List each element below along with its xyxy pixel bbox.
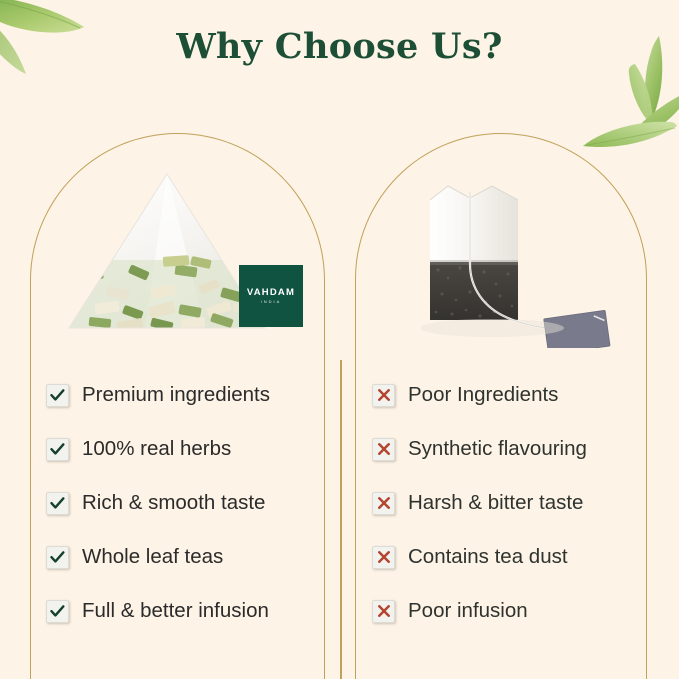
list-item: 100% real herbs — [46, 422, 336, 476]
brand-name: VAHDAM — [247, 288, 295, 298]
list-item: Harsh & bitter taste — [372, 476, 652, 530]
cross-icon — [372, 492, 395, 515]
list-item: Premium ingredients — [46, 368, 336, 422]
cross-icon — [372, 600, 395, 623]
list-item: Full & better infusion — [46, 584, 336, 638]
list-item-label: Contains tea dust — [408, 547, 568, 568]
cross-icon — [372, 438, 395, 461]
list-item-label: Whole leaf teas — [82, 547, 223, 568]
list-item-label: Rich & smooth taste — [82, 493, 265, 514]
list-item-label: 100% real herbs — [82, 439, 231, 460]
page-title: Why Choose Us? — [0, 26, 679, 67]
list-item: Poor Ingredients — [372, 368, 652, 422]
check-icon — [46, 492, 69, 515]
cross-icon — [372, 546, 395, 569]
list-item-label: Full & better infusion — [82, 601, 269, 622]
list-item: Contains tea dust — [372, 530, 652, 584]
list-item-label: Harsh & bitter taste — [408, 493, 583, 514]
list-item-label: Synthetic flavouring — [408, 439, 587, 460]
check-icon — [46, 546, 69, 569]
list-item: Whole leaf teas — [46, 530, 336, 584]
promo-graphic: Why Choose Us? — [0, 0, 679, 679]
column-divider — [340, 360, 342, 679]
check-icon — [46, 384, 69, 407]
benefits-list: Premium ingredients 100% real herbs Rich… — [46, 368, 336, 638]
list-item-label: Poor Ingredients — [408, 385, 558, 406]
list-item-label: Premium ingredients — [82, 385, 270, 406]
cross-icon — [372, 384, 395, 407]
brand-subtitle: INDIA — [261, 300, 282, 304]
vahdam-logo: VAHDAM INDIA — [239, 265, 303, 327]
list-item: Synthetic flavouring — [372, 422, 652, 476]
check-icon — [46, 438, 69, 461]
check-icon — [46, 600, 69, 623]
drawbacks-list: Poor Ingredients Synthetic flavouring Ha… — [372, 368, 652, 638]
list-item: Rich & smooth taste — [46, 476, 336, 530]
paper-tea-bag-image — [400, 168, 635, 348]
list-item-label: Poor infusion — [408, 601, 528, 622]
list-item: Poor infusion — [372, 584, 652, 638]
